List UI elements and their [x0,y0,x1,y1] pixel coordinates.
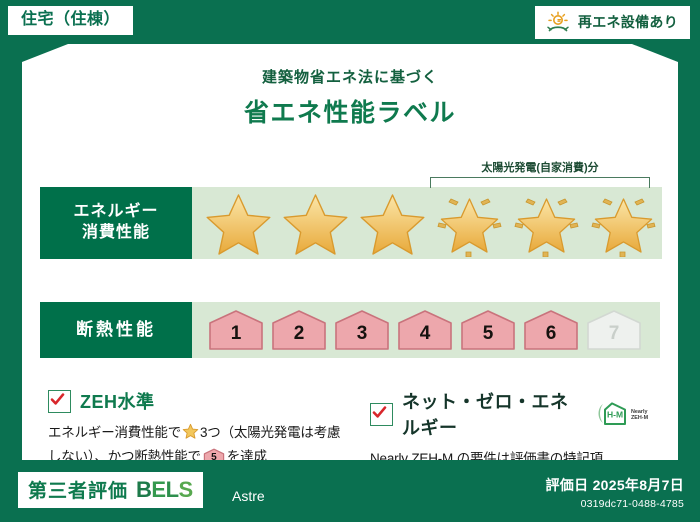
zeh-title: ZEH水準 [80,388,155,414]
net-zero-desc-line1: Nearly ZEH-M の要件は評価書の特記項 [370,451,603,466]
insulation-grade-value: 2 [294,323,305,352]
bels-label-root: 住宅（住棟） 再エネ設備あり 建築物省エネ法に基づく 省エネ性能ラベル [0,0,700,522]
company-name: Astre [232,488,265,504]
net-zero-heading: ネット・ゼロ・エネルギー H-M Nearly ZEH-M [370,388,652,440]
page-title: 省エネ性能ラベル [22,93,678,129]
solar-portion-note: 太陽光発電(自家消費)分 [430,159,650,175]
star-icon [354,189,431,257]
solar-sun-icon [545,10,571,34]
zeh-heading: ZEH水準 [48,388,348,414]
net-zero-desc-line2: 目をご覧ください。 [370,472,490,487]
star-icon [277,189,354,257]
zeh-desc-part2: 3つ（太陽光発電 [200,425,300,440]
insulation-grade-value: 3 [357,323,368,352]
energy-caption-line2: 消費性能 [82,223,150,244]
insulation-grade-value: 4 [420,323,431,352]
checkmark-icon [370,403,393,426]
bels-wordmark: BELS [136,477,193,503]
mini-house-value: 5 [203,448,225,465]
insulation-grade-7: 7 [584,308,644,352]
energy-performance-body: 太陽光発電(自家消費)分 [192,187,662,259]
net-zero-title: ネット・ゼロ・エネルギー [402,388,579,440]
solar-portion-bracket [430,177,650,188]
building-type-tag: 住宅（住棟） [8,6,133,35]
insulation-grade-6: 6 [521,308,581,352]
insulation-performance-row: 断熱性能 1 2 3 4 [40,302,660,358]
star-icon-solar [585,189,662,257]
evaluation-meta: 評価日 2025年8月7日 0319dc71-0488-4785 [545,475,684,510]
evaluation-date: 評価日 2025年8月7日 [545,475,684,495]
energy-performance-caption: エネルギー 消費性能 [40,187,192,259]
insulation-grade-value: 7 [609,323,620,352]
header-subtitle: 建築物省エネ法に基づく [22,66,678,87]
mini-star-icon [182,423,199,447]
renewable-energy-label: 再エネ設備あり [578,12,678,32]
bels-badge: 第三者評価 BELS [18,472,203,508]
insulation-grade-value: 5 [483,323,494,352]
insulation-grade-3: 3 [332,308,392,352]
third-party-label: 第三者評価 [28,476,128,503]
star-icon-solar [431,189,508,257]
zeh-description: エネルギー消費性能で3つ（太陽光発電は考慮しない）、かつ断熱性能で5を達成 [48,423,348,468]
renewable-energy-badge: 再エネ設備あり [535,6,690,39]
checkmark-icon [48,390,71,413]
mini-house-badge: 5 [203,448,225,465]
insulation-grade-4: 4 [395,308,455,352]
insulation-grade-5: 5 [458,308,518,352]
svg-text:ZEH-M: ZEH-M [631,415,649,421]
insulation-grade-2: 2 [269,308,329,352]
insulation-grades: 1 2 3 4 5 [192,302,660,358]
zeh-desc-part1: エネルギー消費性能で [48,425,181,440]
insulation-grade-value: 1 [231,323,242,352]
insulation-caption: 断熱性能 [40,302,192,358]
insulation-grade-value: 6 [546,323,557,352]
insulation-grade-1: 1 [206,308,266,352]
star-icon [200,189,277,257]
svg-text:H-M: H-M [607,410,623,420]
label-card: 建築物省エネ法に基づく 省エネ性能ラベル エネルギー 消費性能 太陽光発電(自家… [22,40,678,460]
label-header: 建築物省エネ法に基づく 省エネ性能ラベル [22,66,678,129]
star-icon-solar [508,189,585,257]
energy-caption-line1: エネルギー [73,202,158,223]
energy-performance-row: エネルギー 消費性能 太陽光発電(自家消費)分 [40,187,660,259]
zeh-desc-part4: を達成 [227,449,267,464]
zeh-m-logo: H-M Nearly ZEH-M [594,401,652,427]
star-rating [200,189,662,257]
evaluation-id: 0319dc71-0488-4785 [545,498,684,510]
